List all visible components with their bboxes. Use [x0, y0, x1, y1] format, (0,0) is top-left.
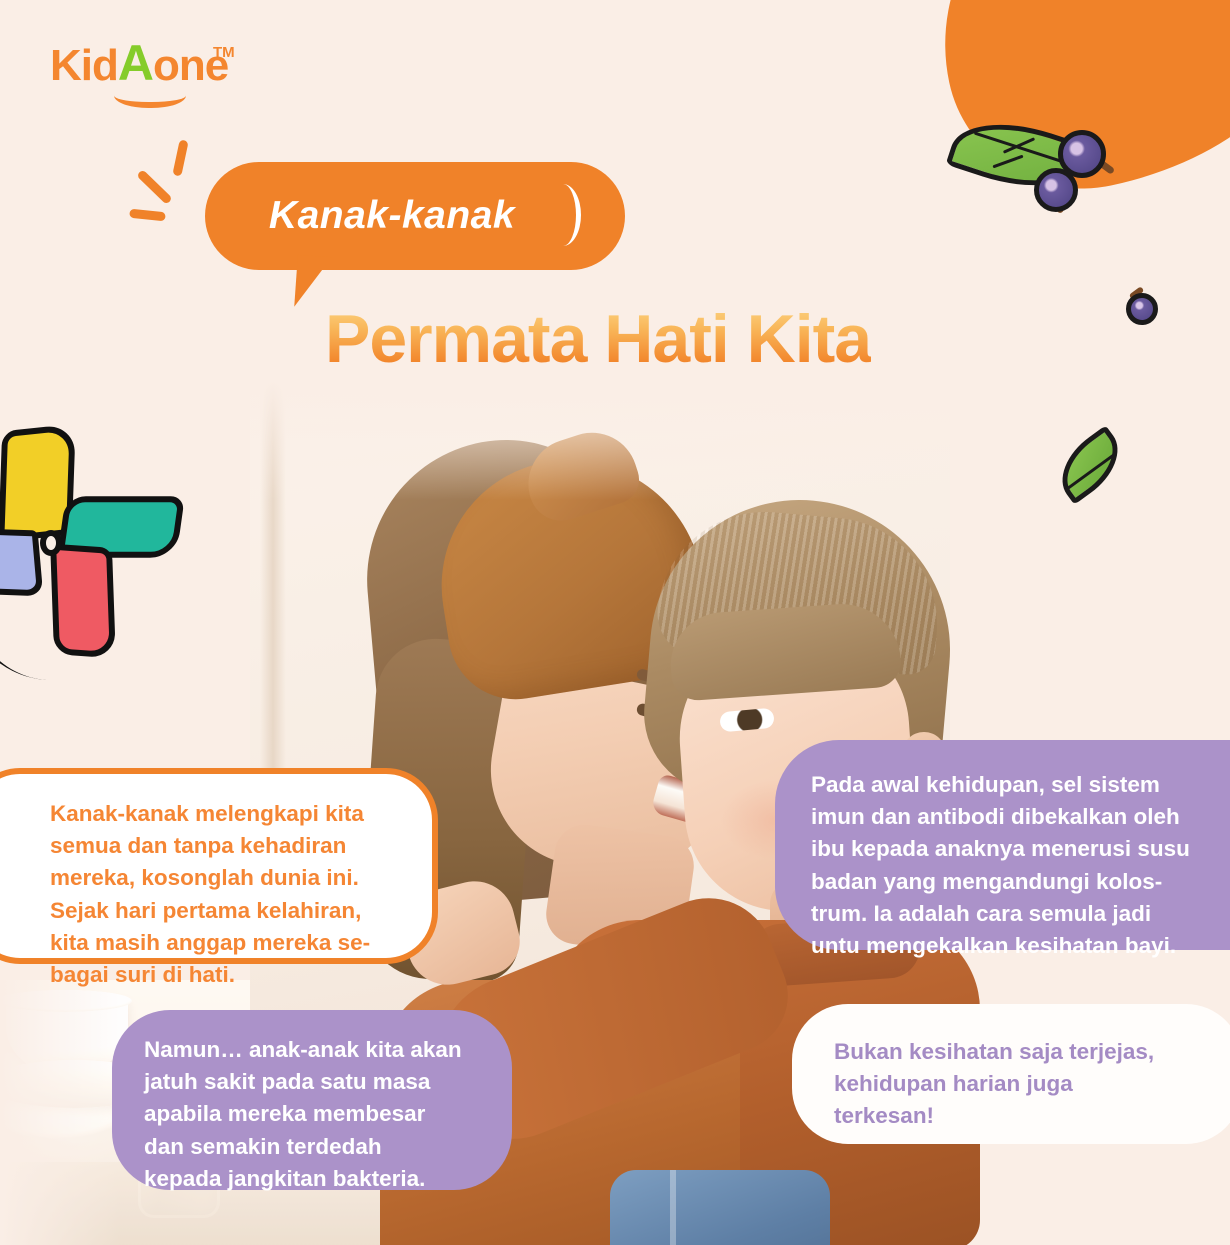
brand-logo-wordmark: KidAone	[50, 38, 228, 88]
pinwheel-blade-red	[50, 544, 116, 659]
callout-impact: Bukan kesihatan saja terjejas, kehidupan…	[792, 1004, 1230, 1144]
callout-intro-text: Kanak-kanak melengkapi kita semua dan ta…	[50, 798, 420, 991]
brand-logo[interactable]: KidAone TM	[50, 38, 228, 88]
child-bangs	[667, 600, 902, 702]
trademark-mark: TM	[213, 44, 235, 61]
berry-cluster-icon	[950, 120, 1120, 230]
callout-impact-text: Bukan kesihatan saja terjejas, kehidupan…	[834, 1036, 1204, 1133]
child-jeans-seam	[670, 1170, 676, 1245]
callout-immunity-text: Pada awal kehidupan, sel sistem imun dan…	[811, 769, 1230, 962]
berry-icon	[1126, 293, 1158, 325]
eyebrow-speech-bubble: Kanak-kanak	[205, 162, 625, 270]
pinwheel-hub	[40, 530, 62, 556]
sparkle-line-icon	[129, 209, 166, 222]
poster-canvas: KidAone TM Kanak-kanak Permata Hati Kita	[0, 0, 1230, 1245]
berry-icon	[1034, 168, 1078, 212]
callout-illness: Namun… anak-anak kita akan jatuh sakit p…	[112, 1010, 512, 1190]
brand-logo-text-1: Kid	[50, 41, 118, 90]
callout-immunity: Pada awal kehidupan, sel sistem imun dan…	[775, 740, 1230, 950]
sparkle-line-icon	[172, 139, 188, 176]
page-title: Permata Hati Kita	[325, 300, 871, 378]
child-jeans	[610, 1170, 830, 1245]
smile-swoosh-icon	[114, 82, 186, 108]
callout-intro: Kanak-kanak melengkapi kita semua dan ta…	[0, 768, 438, 964]
callout-illness-text: Namun… anak-anak kita akan jatuh sakit p…	[144, 1034, 494, 1195]
pinwheel-blade-blue	[0, 526, 43, 597]
sparkle-line-icon	[136, 169, 172, 205]
pinwheel-icon	[0, 418, 210, 678]
